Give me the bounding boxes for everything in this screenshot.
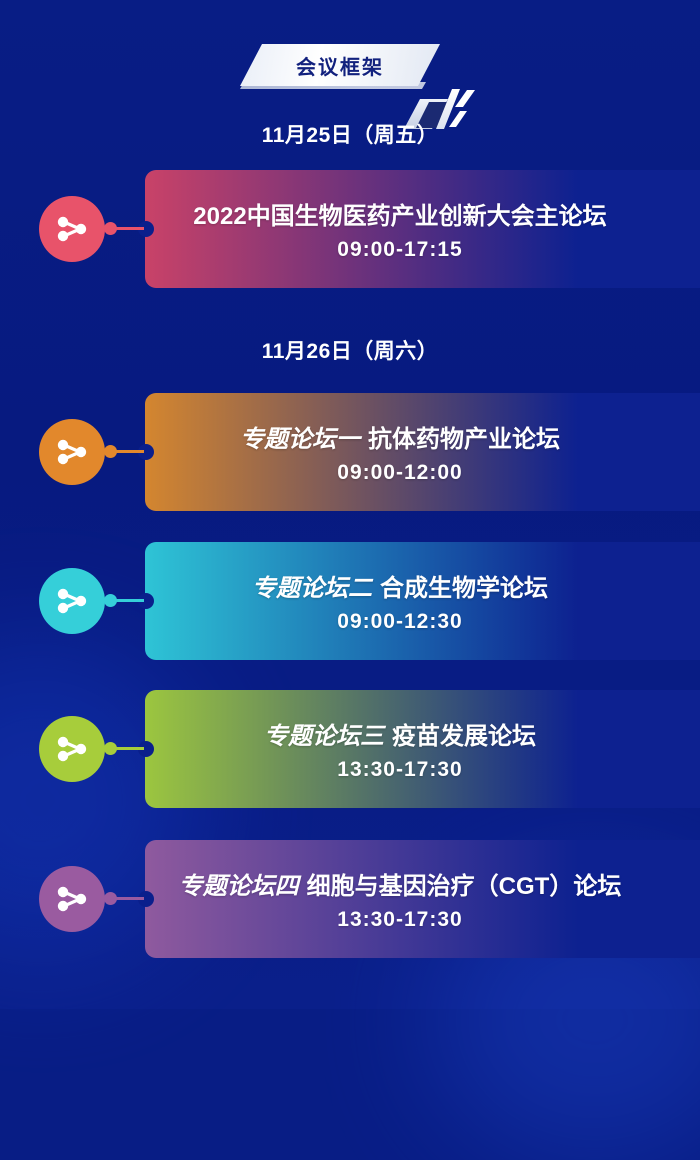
session-row[interactable]: 专题论坛二合成生物学论坛 09:00-12:30 [0,542,700,660]
session-row[interactable]: 2022中国生物医药产业创新大会主论坛 09:00-17:15 [0,170,700,288]
share-node-icon[interactable] [39,568,105,634]
session-card[interactable]: 专题论坛一抗体药物产业论坛 09:00-12:00 [145,393,700,511]
connector-dot [104,742,117,755]
session-prefix: 专题论坛一 [240,426,360,453]
session-time: 13:30-17:30 [145,758,700,782]
connector-dot [104,594,117,607]
session-title: 专题论坛一抗体药物产业论坛 [145,419,700,454]
session-title: 专题论坛三疫苗发展论坛 [145,716,700,751]
date-heading-day2: 11月26日（周六） [0,335,700,365]
session-row[interactable]: 专题论坛一抗体药物产业论坛 09:00-12:00 [0,393,700,511]
share-node-icon[interactable] [39,196,105,262]
banner-title: 会议框架 [240,44,440,86]
conference-agenda-poster: { "banner": { "title": "会议框架", "decorati… [0,0,700,1009]
date-heading-day1: 11月25日（周五） [0,119,700,149]
session-prefix: 专题论坛二 [252,575,372,602]
session-card[interactable]: 专题论坛三疫苗发展论坛 13:30-17:30 [145,690,700,808]
share-node-icon[interactable] [39,419,105,485]
session-name: 2022中国生物医药产业创新大会主论坛 [193,203,606,230]
session-name: 合成生物学论坛 [380,575,548,602]
session-prefix: 专题论坛三 [264,723,384,750]
header-banner: 会议框架 [0,44,700,94]
connector-dot [104,892,117,905]
session-time: 13:30-17:30 [145,908,700,932]
connector-dot [104,222,117,235]
share-node-icon[interactable] [39,716,105,782]
session-time: 09:00-17:15 [145,238,700,262]
session-card[interactable]: 专题论坛二合成生物学论坛 09:00-12:30 [145,542,700,660]
session-card[interactable]: 2022中国生物医药产业创新大会主论坛 09:00-17:15 [145,170,700,288]
session-title: 2022中国生物医药产业创新大会主论坛 [145,196,700,231]
session-card[interactable]: 专题论坛四细胞与基因治疗（CGT）论坛 13:30-17:30 [145,840,700,958]
session-name: 细胞与基因治疗（CGT）论坛 [307,873,622,900]
session-prefix: 专题论坛四 [179,873,299,900]
session-row[interactable]: 专题论坛四细胞与基因治疗（CGT）论坛 13:30-17:30 [0,840,700,958]
session-title: 专题论坛二合成生物学论坛 [145,568,700,603]
session-title: 专题论坛四细胞与基因治疗（CGT）论坛 [145,866,700,901]
session-name: 抗体药物产业论坛 [368,426,560,453]
session-time: 09:00-12:00 [145,461,700,485]
connector-dot [104,445,117,458]
session-name: 疫苗发展论坛 [392,723,536,750]
session-row[interactable]: 专题论坛三疫苗发展论坛 13:30-17:30 [0,690,700,808]
session-time: 09:00-12:30 [145,610,700,634]
share-node-icon[interactable] [39,866,105,932]
